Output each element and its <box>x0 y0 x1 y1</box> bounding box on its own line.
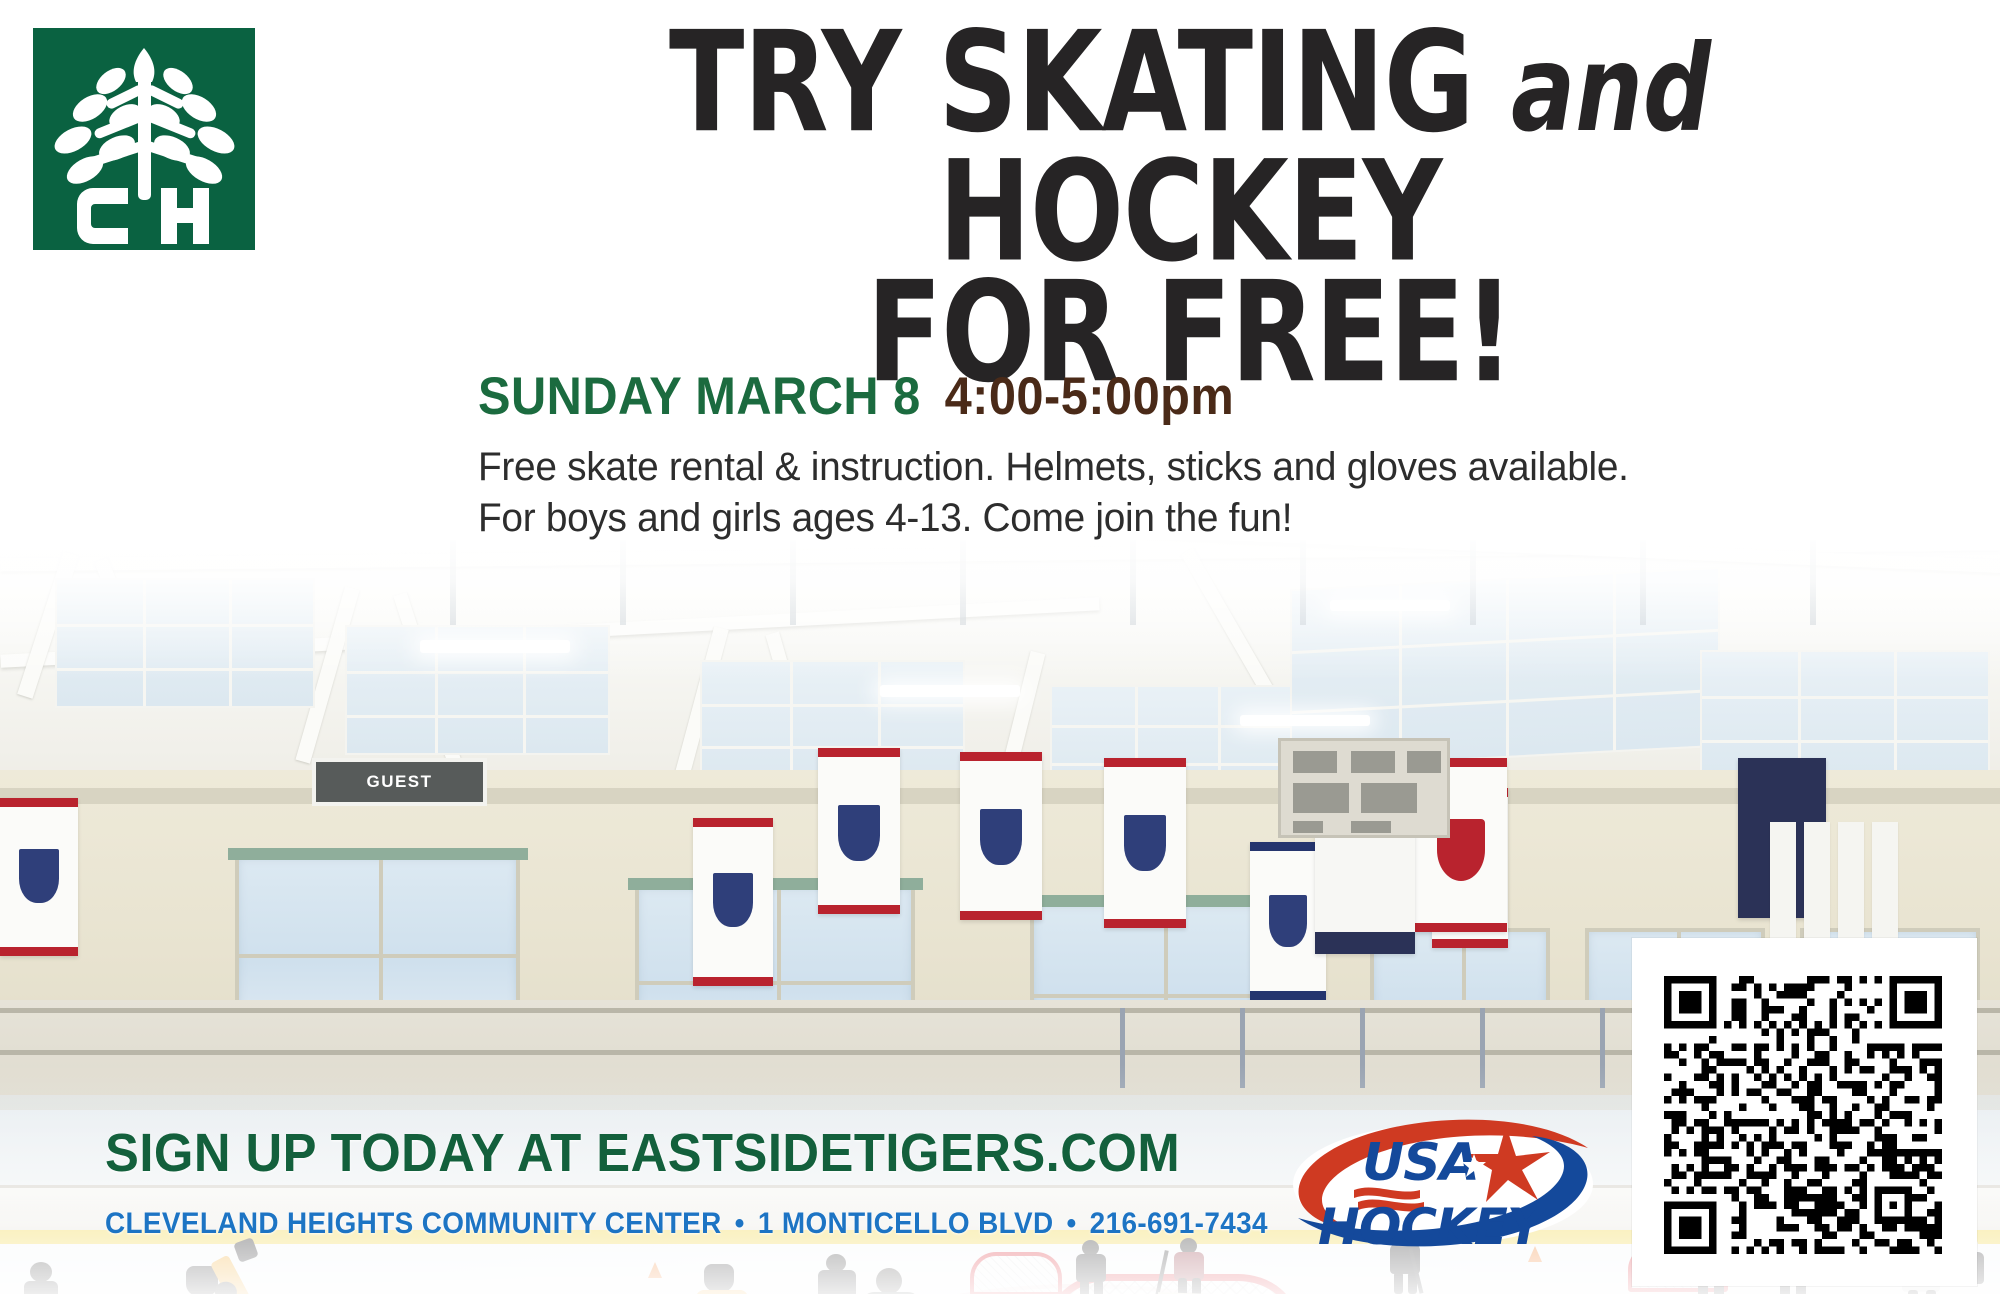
championship-banner <box>0 798 78 956</box>
header-area: TRY SKATING and HOCKEY FOR FREE! SUNDAY … <box>0 0 2000 540</box>
description-line-2: For boys and girls ages 4-13. Come join … <box>478 493 1629 544</box>
separator-dot: • <box>722 1207 758 1240</box>
rail-post <box>1360 1008 1365 1088</box>
event-description: Free skate rental & instruction. Helmets… <box>478 442 1629 544</box>
cleveland-heights-tree-logo <box>33 28 255 250</box>
guest-scoreboard-sign: GUEST <box>312 758 487 806</box>
headline-script-and: and <box>1511 20 1711 159</box>
venue-info: CLEVELAND HEIGHTS COMMUNITY CENTER•1 MON… <box>105 1207 1268 1241</box>
window-sill <box>228 848 528 860</box>
separator-dot: • <box>1053 1207 1089 1240</box>
rail-post <box>1480 1008 1485 1088</box>
page-title: TRY SKATING and HOCKEY FOR FREE! <box>430 18 1950 374</box>
usa-hockey-logo: USA HOCKEY <box>1288 1118 1598 1268</box>
venue-address: 1 MONTICELLO BLVD <box>758 1207 1054 1240</box>
event-date: SUNDAY MARCH 8 <box>478 367 921 426</box>
ceiling-light <box>420 640 570 653</box>
guest-sign-label: GUEST <box>366 772 432 792</box>
rail-post <box>1240 1008 1245 1088</box>
scoreboard <box>1278 738 1450 838</box>
event-datetime: SUNDAY MARCH 84:00-5:00pm <box>478 366 1234 427</box>
flyer-poster: GUEST <box>0 0 2000 1294</box>
record-banner <box>1804 822 1830 952</box>
signup-qr-card <box>1632 938 1977 1286</box>
championship-banner <box>693 818 773 986</box>
ceiling-light <box>880 685 1020 697</box>
ceiling-light <box>1330 600 1450 611</box>
glass-post <box>450 530 456 625</box>
glass-post <box>1640 530 1646 625</box>
signup-qr-code[interactable] <box>1664 976 1942 1254</box>
signup-call-to-action[interactable]: SIGN UP TODAY AT EASTSIDETIGERS.COM <box>105 1122 1180 1184</box>
hockey-net-far <box>970 1252 1062 1294</box>
event-time: 4:00-5:00pm <box>945 367 1235 426</box>
record-banner <box>1770 822 1796 952</box>
championship-banner <box>960 752 1042 920</box>
glass-post <box>1810 530 1816 625</box>
training-cone <box>648 1262 662 1278</box>
ceiling-light <box>1240 715 1370 726</box>
venue-name: CLEVELAND HEIGHTS COMMUNITY CENTER <box>105 1207 722 1240</box>
venue-phone: 216-691-7434 <box>1090 1207 1268 1240</box>
svg-text:HOCKEY: HOCKEY <box>1318 1198 1548 1256</box>
description-line-1: Free skate rental & instruction. Helmets… <box>478 442 1629 493</box>
svg-text:USA: USA <box>1362 1133 1479 1193</box>
clerestory-window <box>55 578 315 708</box>
rail-post <box>1120 1008 1125 1088</box>
record-banner <box>1838 822 1864 952</box>
championship-banner <box>818 748 900 914</box>
championship-banner <box>1104 758 1186 928</box>
rail-post <box>1600 1008 1605 1088</box>
record-banner <box>1872 822 1898 952</box>
